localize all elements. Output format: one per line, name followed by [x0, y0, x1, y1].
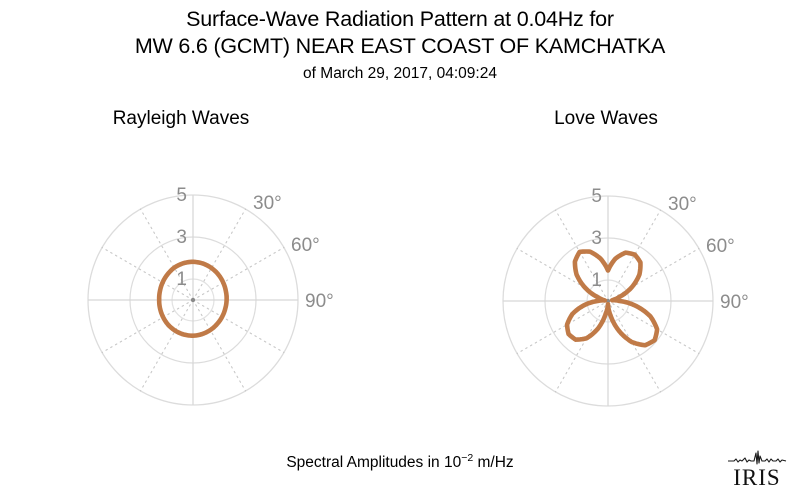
panel-rayleigh: Rayleigh Waves: [13, 108, 373, 428]
title-line-1: Surface-Wave Radiation Pattern at 0.04Hz…: [0, 6, 800, 33]
caption-suffix: m/Hz: [473, 454, 513, 471]
angle-tick-60: 60°: [291, 235, 320, 256]
iris-logo: IRIS: [726, 450, 788, 490]
radial-tick-3: 3: [591, 228, 602, 249]
angle-tick-60: 60°: [706, 236, 735, 257]
rayleigh-svg: 5 3 1 30° 60° 90°: [13, 108, 373, 428]
figure-caption: Spectral Amplitudes in 10−2 m/Hz: [0, 452, 800, 472]
polar-plot-love: 5 3 1 30° 60° 90°: [428, 108, 788, 428]
figure-title-block: Surface-Wave Radiation Pattern at 0.04Hz…: [0, 6, 800, 85]
seismic-waveform-icon: [726, 450, 788, 466]
figure-canvas: Surface-Wave Radiation Pattern at 0.04Hz…: [0, 0, 800, 496]
radial-tick-5: 5: [591, 186, 602, 207]
origin-dot: [191, 298, 195, 302]
caption-exponent: −2: [461, 452, 473, 464]
radial-tick-5: 5: [176, 185, 187, 206]
title-subtitle: of March 29, 2017, 04:09:24: [0, 63, 800, 85]
radiation-pattern-curve: [567, 252, 657, 346]
caption-prefix: Spectral Amplitudes in 10: [286, 454, 461, 471]
panel-love: Love Waves: [428, 108, 788, 428]
polar-plot-rayleigh: 5 3 1 30° 60° 90°: [13, 108, 373, 428]
radial-tick-1: 1: [176, 269, 187, 290]
angle-tick-90: 90°: [305, 291, 334, 312]
angle-tick-90: 90°: [720, 292, 749, 313]
angle-tick-30: 30°: [668, 194, 697, 215]
radial-tick-3: 3: [176, 227, 187, 248]
title-line-2: MW 6.6 (GCMT) NEAR EAST COAST OF KAMCHAT…: [0, 33, 800, 60]
angle-tick-30: 30°: [253, 193, 282, 214]
love-svg: 5 3 1 30° 60° 90°: [428, 108, 788, 428]
iris-logo-text: IRIS: [726, 467, 788, 489]
radial-tick-1: 1: [591, 270, 602, 291]
